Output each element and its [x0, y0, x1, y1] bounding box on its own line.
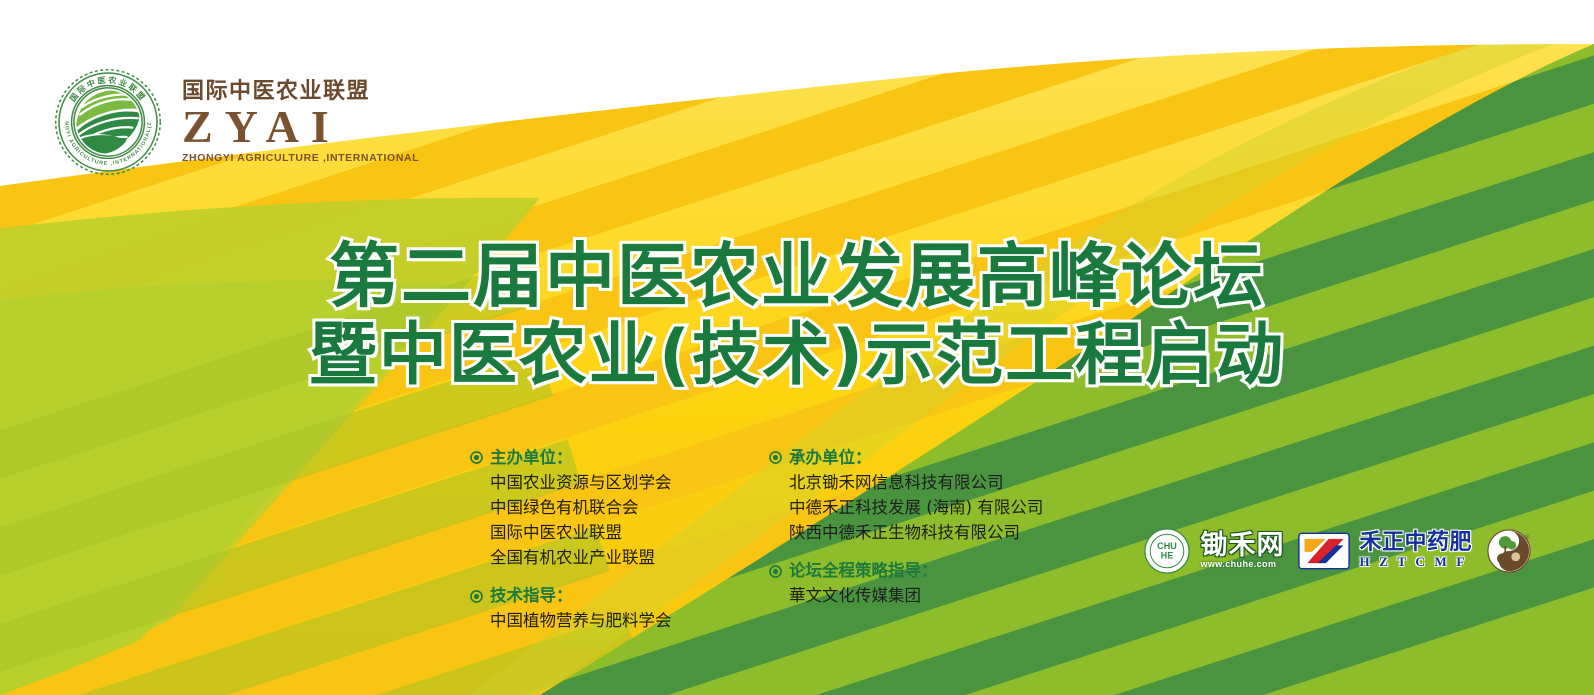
credit-item: 国际中医农业联盟 — [490, 520, 725, 545]
credit-heading-label: 承办单位： — [789, 446, 872, 470]
sponsor-taiji-trademark: ® — [1524, 534, 1529, 542]
svg-text:HE: HE — [1161, 551, 1174, 561]
credit-item: 中国植物营养与肥料学会 — [490, 608, 725, 633]
credit-heading: 承办单位： — [769, 446, 1069, 470]
credit-item: 中国农业资源与区划学会 — [490, 470, 725, 495]
sponsor-hztcmf-name-cn: 禾正中药肥 — [1359, 532, 1472, 554]
credit-group-strategy-guidance: 论坛全程策略指导： 華文文化传媒集团 — [769, 559, 1069, 608]
credit-group-organizers: 主办单位： 中国农业资源与区划学会 中国绿色有机联合会 国际中医农业联盟 全国有… — [470, 446, 725, 570]
sponsor-chuhe-name: 锄禾网 — [1200, 533, 1284, 559]
hztcmf-z-mark-icon — [1298, 530, 1350, 572]
logo-wordmark: 国际中医农业联盟 ZYAI ZHONGYI AGRICULTURE ,INTER… — [182, 79, 419, 165]
logo-acronym: ZYAI — [182, 104, 419, 150]
credit-item: 中德禾正科技发展 (海南) 有限公司 — [789, 495, 1069, 520]
credit-heading-label: 主办单位： — [490, 446, 573, 470]
credit-heading-label: 论坛全程策略指导： — [789, 559, 938, 583]
credit-item: 中国绿色有机联合会 — [490, 495, 725, 520]
credit-item: 華文文化传媒集团 — [789, 583, 1069, 608]
organization-logo: 国际中医农业联盟 ZHONGYI AGRICULTURE ,INTERNATIO… — [52, 66, 419, 178]
credit-item: 陕西中德禾正生物科技有限公司 — [789, 520, 1069, 545]
bullet-ring-icon — [769, 451, 782, 464]
credit-item: 全国有机农业产业联盟 — [490, 545, 725, 570]
credits-column-2: 承办单位： 北京锄禾网信息科技有限公司 中德禾正科技发展 (海南) 有限公司 陕… — [769, 446, 1069, 633]
taiji-tree-round-badge-icon: ® — [1486, 528, 1532, 574]
credit-heading: 主办单位： — [470, 446, 725, 470]
svg-text:CHU: CHU — [1158, 541, 1178, 551]
bullet-ring-icon — [470, 590, 483, 603]
credit-heading-label: 技术指导： — [490, 584, 573, 608]
sponsor-chuhe-url: www.chuhe.com — [1200, 559, 1284, 569]
sponsor-logo-taiji-tree: ® — [1486, 528, 1532, 574]
sponsor-logo-chuhe: CHU HE 锄禾网 www.chuhe.com — [1144, 528, 1284, 574]
sponsor-logo-strip: CHU HE 锄禾网 www.chuhe.com 禾正中药肥 H Z T C M… — [1144, 528, 1532, 574]
sponsor-hztcmf-name-en: H Z T C M F — [1359, 554, 1472, 570]
chuhe-round-badge-icon: CHU HE — [1144, 528, 1190, 574]
credit-group-technical-guidance: 技术指导： 中国植物营养与肥料学会 — [470, 584, 725, 633]
credits-column-1: 主办单位： 中国农业资源与区划学会 中国绿色有机联合会 国际中医农业联盟 全国有… — [470, 446, 725, 633]
credit-group-co-organizers: 承办单位： 北京锄禾网信息科技有限公司 中德禾正科技发展 (海南) 有限公司 陕… — [769, 446, 1069, 545]
logo-name-en: ZHONGYI AGRICULTURE ,INTERNATIONAL — [182, 153, 419, 165]
credit-heading: 技术指导： — [470, 584, 725, 608]
bullet-ring-icon — [769, 565, 782, 578]
poster-canvas: 国际中医农业联盟 ZHONGYI AGRICULTURE ,INTERNATIO… — [0, 0, 1594, 695]
sponsor-logo-hztcmf: 禾正中药肥 H Z T C M F — [1298, 530, 1472, 572]
credit-heading: 论坛全程策略指导： — [769, 559, 1069, 583]
credits-block: 主办单位： 中国农业资源与区划学会 中国绿色有机联合会 国际中医农业联盟 全国有… — [470, 446, 1069, 633]
credit-item: 北京锄禾网信息科技有限公司 — [789, 470, 1069, 495]
zyai-circular-emblem-icon: 国际中医农业联盟 ZHONGYI AGRICULTURE ,INTERNATIO… — [52, 66, 164, 178]
bullet-ring-icon — [470, 451, 483, 464]
logo-name-cn: 国际中医农业联盟 — [182, 79, 419, 103]
